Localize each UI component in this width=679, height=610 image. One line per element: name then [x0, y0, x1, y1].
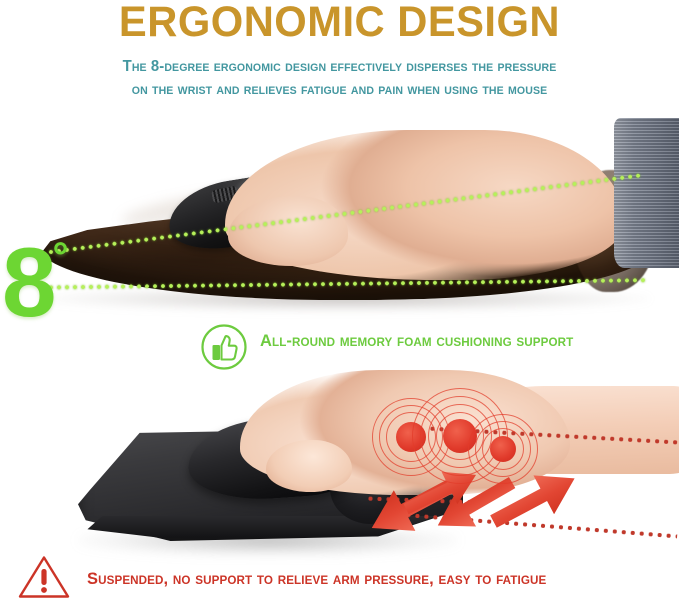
pressure-point-icon: [468, 414, 538, 484]
bad-caption-row: Suspended, no support to relieve arm pre…: [0, 550, 679, 610]
good-caption-text: All-round memory foam cushioning support: [260, 331, 573, 351]
thumb-illustration-bottom: [266, 440, 352, 492]
subtitle-line-1: The 8-degree ergonomic design effectivel…: [14, 55, 666, 78]
flat-mousepad-scene: [0, 378, 679, 568]
sweater-sleeve: [614, 118, 679, 268]
subtitle-line-2: on the wrist and relieves fatigue and pa…: [14, 78, 666, 101]
degree-symbol-icon: °: [53, 235, 69, 279]
thumbs-up-icon: [200, 323, 248, 371]
bad-caption-text: Suspended, no support to relieve arm pre…: [87, 569, 546, 589]
ergonomic-wrist-rest-scene: 8°: [0, 118, 679, 318]
angle-label: 8°: [2, 208, 69, 331]
page-subtitle: The 8-degree ergonomic design effectivel…: [14, 55, 666, 101]
warning-triangle-icon: [17, 554, 71, 600]
good-caption-row: All-round memory foam cushioning support: [0, 320, 679, 378]
header-block: ERGONOMIC DESIGN The 8-degree ergonomic …: [0, 0, 679, 120]
page-title: ERGONOMIC DESIGN: [10, 0, 669, 46]
